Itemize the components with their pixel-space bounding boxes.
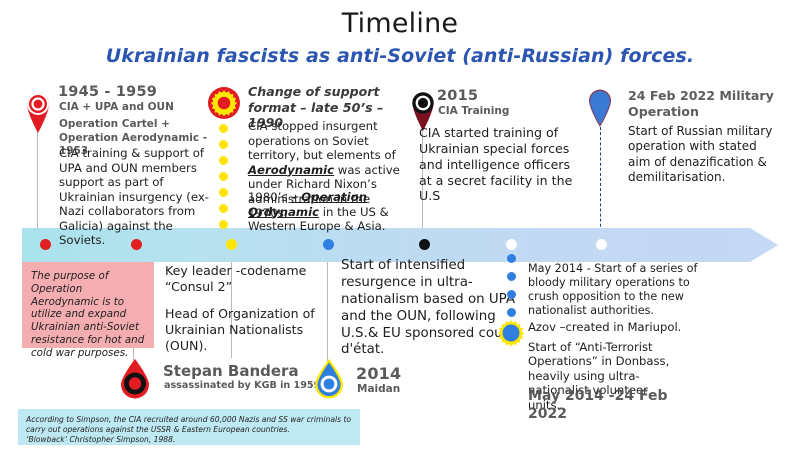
timeline-dot-1959[interactable] (323, 239, 334, 250)
event-2015-year: 2015 (437, 88, 478, 104)
dot-trail-yellow (219, 124, 228, 133)
sunburst-blue-yellow-icon[interactable] (496, 318, 526, 348)
aerodynamic-purpose-note: The purpose of Operation Aerodynamic is … (22, 262, 154, 348)
dot-trail-yellow (219, 140, 228, 149)
sunburst-red-yellow-icon[interactable] (207, 86, 241, 120)
bandera-note: assassinated by KGB in 1959 (164, 380, 320, 391)
event-1945-year: 1945 - 1959 (58, 84, 157, 100)
footnote-line-2: ‘Blowback’ Christopher Simpson, 1988. (26, 435, 352, 445)
maidan-label: Maidan (357, 383, 400, 395)
para2-pre: 1980’s (248, 190, 291, 204)
timeline-dot-1945[interactable] (40, 239, 51, 250)
dot-trail-blue (507, 290, 516, 299)
pin-blue-icon[interactable] (583, 84, 617, 128)
timeline-dot-may2014[interactable] (506, 239, 517, 250)
target-pin-red-icon[interactable] (20, 86, 56, 134)
para1-emphasis: Aerodynamic (248, 163, 334, 177)
donbass-period: May 2014 -24 Feb 2022 (528, 388, 668, 423)
event-2015-subtitle: CIA Training (438, 105, 509, 117)
page-title: Timeline (0, 8, 800, 39)
bandera-line-1: Key leader -codename “Consul 2” (165, 263, 325, 295)
timeline-dot-2014[interactable] (419, 239, 430, 250)
page-subtitle: Ukrainian fascists as anti-Soviet (anti-… (0, 45, 800, 67)
bandera-line-2: Head of Organization of Ukrainian Nation… (165, 306, 315, 354)
dot-trail-yellow (219, 204, 228, 213)
timeline-dot-late50s[interactable] (226, 239, 237, 250)
timeline-infographic: Timeline Ukrainian fascists as anti-Sovi… (0, 0, 800, 450)
connector-dashed-2022 (600, 122, 601, 242)
event-1945-body: CIA training & support of UPA and OUN me… (59, 146, 213, 248)
maidan-year: 2014 (356, 364, 401, 383)
footnote-box: According to Simpson, the CIA recruited … (18, 409, 360, 445)
dot-trail-yellow (219, 188, 228, 197)
event-1945-subtitle: CIA + UPA and OUN (59, 101, 174, 113)
teardrop-pin-red-black-icon[interactable] (117, 357, 153, 399)
dot-trail-blue (507, 308, 516, 317)
event-2015-body: CIA started training of Ukrainian specia… (419, 125, 579, 204)
event-2022-body: Start of Russian military operation with… (628, 124, 774, 185)
dot-trail-blue (507, 272, 516, 281)
connector-line-2014maidan (327, 244, 328, 366)
dot-trail-yellow (219, 172, 228, 181)
donbass-paragraph-2: Azov –created in Mariupol. (528, 320, 708, 334)
footnote-line-1: According to Simpson, the CIA recruited … (26, 415, 352, 435)
dot-trail-blue (507, 254, 516, 263)
connector-line-1945 (37, 118, 38, 240)
teardrop-pin-blue-yellow-icon[interactable] (311, 357, 347, 399)
donbass-paragraph-1: May 2014 - Start of a series of bloody m… (528, 262, 700, 318)
event-late50s-paragraph-2: 1980’s – Operation Ordynamic in the US &… (248, 190, 410, 234)
event-2022-heading: 24 Feb 2022 Military Operation (628, 88, 780, 121)
dot-trail-yellow (219, 220, 228, 229)
dot-trail-yellow (219, 156, 228, 165)
bandera-name: Stepan Bandera (163, 362, 299, 380)
para1-pre: CIA stopped insurgent operations on Sovi… (248, 119, 396, 162)
timeline-dot-2022[interactable] (596, 239, 607, 250)
